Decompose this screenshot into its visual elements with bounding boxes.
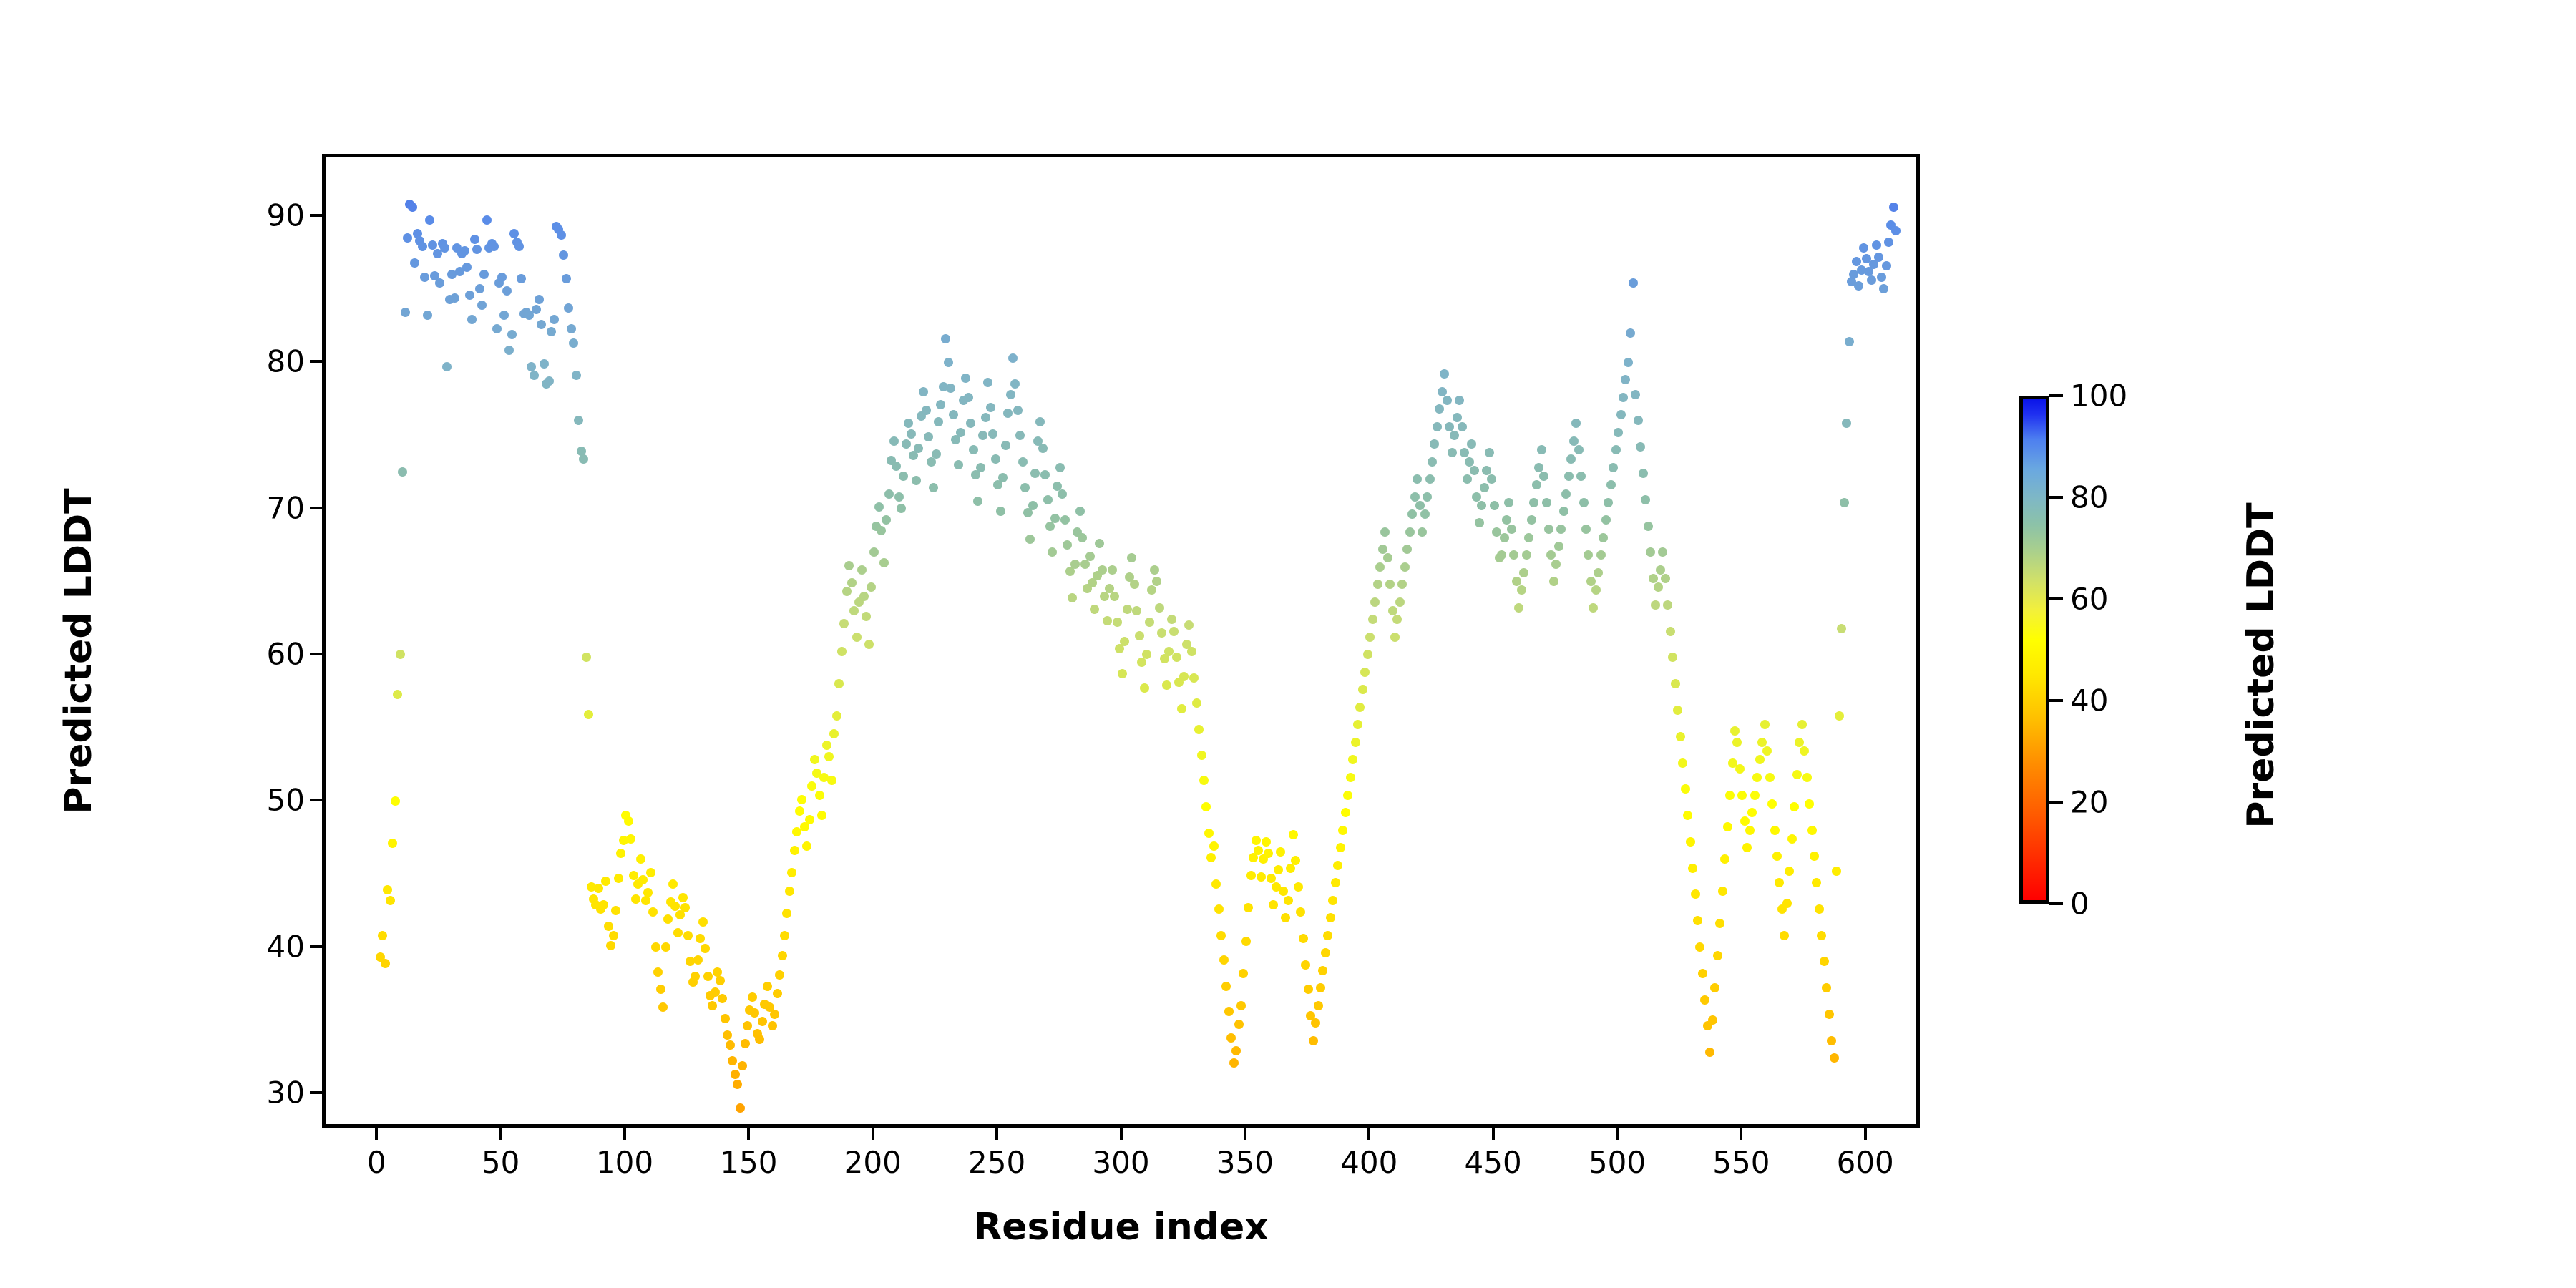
data-point <box>773 989 782 998</box>
data-point <box>1807 826 1817 835</box>
colorbar-tick-label: 0 <box>2070 887 2089 922</box>
data-point <box>1455 396 1464 405</box>
data-point <box>1750 791 1760 800</box>
data-point <box>1705 1048 1714 1057</box>
y-tick-mark <box>310 507 322 509</box>
data-point <box>1688 864 1697 873</box>
data-point <box>1812 878 1821 887</box>
colorbar-tick-mark <box>2049 394 2063 397</box>
data-point <box>768 1021 777 1030</box>
data-point <box>1433 422 1442 431</box>
data-point <box>631 894 640 904</box>
data-point <box>616 849 625 858</box>
data-point <box>778 951 787 960</box>
data-point <box>1291 856 1300 865</box>
data-point <box>1289 830 1298 839</box>
data-point <box>726 1040 735 1050</box>
data-point <box>1179 672 1189 681</box>
data-point <box>540 359 549 369</box>
data-point <box>673 928 683 937</box>
data-point <box>1440 369 1449 379</box>
data-point <box>678 893 688 902</box>
data-point <box>733 1080 742 1089</box>
data-point <box>929 483 938 492</box>
data-point <box>1693 916 1702 925</box>
data-point <box>638 875 648 884</box>
data-point <box>1463 474 1472 484</box>
data-point <box>944 358 953 367</box>
data-point <box>1252 836 1261 845</box>
data-point <box>1038 444 1048 453</box>
data-point <box>1420 509 1430 519</box>
data-point <box>514 242 524 251</box>
data-point <box>1891 226 1901 235</box>
data-point <box>1487 474 1496 484</box>
data-point <box>693 955 703 965</box>
data-point <box>1244 903 1253 912</box>
data-point <box>564 303 573 313</box>
data-point <box>1554 542 1563 551</box>
data-point <box>1879 284 1888 293</box>
data-point <box>1132 606 1141 615</box>
data-point <box>867 582 876 592</box>
data-point <box>956 428 965 437</box>
data-point <box>1631 390 1640 399</box>
data-point <box>1740 816 1750 826</box>
data-point <box>1695 942 1704 952</box>
data-point <box>504 346 514 355</box>
data-point <box>924 432 933 441</box>
data-point <box>1671 679 1680 688</box>
y-tick-label: 90 <box>267 197 305 233</box>
data-point <box>839 619 849 628</box>
data-point <box>721 1014 730 1023</box>
data-point <box>1130 580 1139 589</box>
x-tick-label: 550 <box>1712 1145 1770 1180</box>
data-point <box>703 972 713 981</box>
data-point <box>1443 396 1452 405</box>
data-point <box>1514 603 1523 613</box>
x-tick-mark <box>499 1128 502 1140</box>
data-point <box>790 846 799 855</box>
data-point <box>1787 834 1797 844</box>
data-point <box>889 436 899 446</box>
data-point <box>802 841 811 851</box>
data-point <box>378 931 387 940</box>
data-point <box>1532 480 1541 489</box>
data-point <box>797 795 806 804</box>
data-point <box>1407 509 1417 519</box>
data-point <box>852 633 862 642</box>
data-point <box>1028 501 1038 510</box>
data-point <box>1348 755 1357 764</box>
data-point <box>832 711 841 721</box>
data-point <box>879 558 889 567</box>
data-point <box>1663 600 1672 610</box>
data-point <box>1003 409 1013 418</box>
data-point <box>949 410 958 419</box>
data-point <box>1318 966 1327 975</box>
data-point <box>1281 913 1290 922</box>
data-point <box>1090 605 1099 614</box>
data-point <box>1246 871 1256 880</box>
data-point <box>535 295 544 304</box>
data-point <box>1418 527 1427 537</box>
data-point <box>899 472 908 481</box>
data-point <box>517 274 526 283</box>
data-point <box>1445 422 1454 431</box>
x-tick-label: 100 <box>596 1145 653 1180</box>
data-point <box>998 473 1008 482</box>
data-point <box>1018 457 1028 467</box>
data-point <box>1537 445 1546 454</box>
data-point <box>670 902 680 911</box>
data-point <box>1413 474 1422 484</box>
data-point <box>1611 445 1621 454</box>
data-point <box>1745 826 1755 835</box>
y-tick-label: 40 <box>267 929 305 964</box>
data-point <box>1314 1001 1323 1010</box>
data-point <box>1199 776 1209 785</box>
data-point <box>902 439 911 449</box>
data-point <box>1805 799 1814 809</box>
data-point <box>966 419 975 428</box>
y-tick-label: 60 <box>267 636 305 671</box>
data-point <box>1236 1001 1246 1010</box>
data-point <box>701 944 710 953</box>
data-point <box>738 1061 747 1070</box>
data-point <box>728 1056 737 1065</box>
data-point <box>1810 852 1819 861</box>
data-point <box>829 729 839 738</box>
data-point <box>1110 592 1119 601</box>
data-point <box>1549 577 1558 586</box>
scatter-plot-area[interactable] <box>326 157 1916 1124</box>
data-point <box>1470 466 1479 475</box>
data-point <box>973 497 982 506</box>
data-point <box>822 741 831 750</box>
data-point <box>912 476 921 485</box>
data-point <box>1713 951 1722 960</box>
data-point <box>1103 616 1112 625</box>
data-point <box>1262 837 1271 847</box>
data-point <box>579 454 588 464</box>
data-point <box>1681 784 1690 794</box>
data-point <box>1142 650 1151 659</box>
data-point <box>731 1070 740 1079</box>
data-point <box>1800 746 1809 756</box>
data-point <box>1614 428 1623 437</box>
data-point <box>1566 454 1576 464</box>
data-point <box>862 612 871 621</box>
data-point <box>1162 680 1171 690</box>
data-point <box>1331 878 1340 887</box>
data-point <box>1378 545 1387 554</box>
data-point <box>1328 896 1337 905</box>
data-point <box>582 653 591 662</box>
data-point <box>557 230 566 240</box>
data-point <box>1874 253 1883 262</box>
data-point <box>680 903 690 912</box>
data-point <box>1609 463 1618 472</box>
data-point <box>1830 1053 1839 1063</box>
data-point <box>1423 492 1432 502</box>
data-point <box>1524 533 1533 542</box>
x-tick-mark <box>623 1128 626 1140</box>
data-point <box>428 240 437 250</box>
data-point <box>656 985 665 994</box>
data-point <box>1668 653 1677 662</box>
data-point <box>1040 470 1050 479</box>
data-point <box>1385 580 1395 589</box>
data-point <box>1001 441 1010 450</box>
data-point <box>1522 550 1531 560</box>
data-point <box>567 324 576 333</box>
data-point <box>559 250 568 260</box>
data-point <box>1309 1036 1318 1045</box>
data-point <box>1472 492 1481 502</box>
data-point <box>1425 474 1435 484</box>
data-point <box>1338 826 1347 835</box>
data-point <box>1616 410 1626 419</box>
data-point <box>393 690 402 699</box>
data-point <box>770 1010 779 1019</box>
data-point <box>1656 565 1665 575</box>
data-point <box>1502 515 1511 525</box>
data-point <box>1453 413 1462 422</box>
data-point <box>1822 983 1831 992</box>
y-tick-label: 80 <box>267 344 305 379</box>
data-point <box>1840 498 1849 507</box>
data-point <box>1542 498 1551 507</box>
data-point <box>1742 843 1752 852</box>
data-point <box>509 229 519 238</box>
data-point <box>1559 507 1568 516</box>
data-point <box>1477 501 1486 510</box>
data-point <box>1048 547 1057 557</box>
data-point <box>1415 501 1425 510</box>
data-point <box>651 942 660 952</box>
data-point <box>1341 808 1350 817</box>
data-point <box>562 274 571 283</box>
data-point <box>1458 422 1467 431</box>
data-point <box>1619 393 1628 402</box>
data-point <box>1304 985 1313 994</box>
data-point <box>1043 495 1053 504</box>
data-point <box>1599 533 1608 542</box>
data-point <box>986 403 995 412</box>
data-point <box>1760 720 1770 729</box>
data-point <box>1395 597 1405 607</box>
data-point <box>1152 577 1161 586</box>
data-point <box>1123 605 1132 614</box>
y-tick-mark <box>310 945 322 948</box>
data-point <box>1355 703 1365 712</box>
data-point <box>849 606 859 615</box>
data-point <box>1060 515 1070 525</box>
data-point <box>1485 448 1494 457</box>
data-point <box>1820 957 1829 966</box>
data-point <box>1569 436 1579 446</box>
plddt-scatter-figure: 050100150200250300350400450500550600 Res… <box>0 0 2576 1288</box>
x-tick-mark <box>1367 1128 1370 1140</box>
data-point <box>467 315 477 324</box>
x-tick-mark <box>747 1128 750 1140</box>
data-point <box>604 922 613 931</box>
data-point <box>1058 489 1067 499</box>
data-point <box>1757 738 1767 747</box>
data-point <box>1068 593 1077 602</box>
data-point <box>869 547 879 557</box>
data-point <box>1402 545 1412 554</box>
data-point <box>1817 931 1826 940</box>
plot-axes <box>322 154 1920 1128</box>
data-point <box>1120 637 1129 646</box>
data-point <box>1644 522 1653 531</box>
data-point <box>1368 615 1377 624</box>
data-point <box>1030 469 1040 478</box>
data-point <box>988 429 997 439</box>
data-point <box>1534 463 1543 472</box>
y-tick-mark <box>310 214 322 217</box>
data-point <box>1224 1007 1234 1016</box>
data-point <box>1209 841 1219 851</box>
data-point <box>648 907 658 917</box>
data-point <box>1363 650 1372 659</box>
data-point <box>1428 457 1437 467</box>
data-point <box>606 941 615 950</box>
data-point <box>1450 431 1459 440</box>
data-point <box>1465 457 1474 467</box>
data-point <box>418 242 427 251</box>
data-point <box>1216 931 1226 940</box>
data-point <box>1641 495 1650 504</box>
data-point <box>748 992 757 1002</box>
data-point <box>1755 755 1765 764</box>
data-point <box>1075 507 1085 516</box>
data-point <box>1351 738 1360 747</box>
data-point <box>1070 560 1080 569</box>
data-point <box>1197 751 1206 760</box>
data-point <box>1333 861 1342 870</box>
data-point <box>807 781 816 791</box>
data-point <box>834 679 844 688</box>
data-point <box>1167 615 1176 624</box>
data-point <box>1234 1020 1244 1029</box>
data-point <box>629 871 638 880</box>
data-point <box>1383 553 1392 562</box>
data-point <box>1392 615 1402 624</box>
data-point <box>736 1103 745 1113</box>
data-point <box>1504 498 1513 507</box>
data-point <box>1360 668 1370 677</box>
data-point <box>1884 238 1893 247</box>
data-point <box>1730 726 1740 736</box>
data-point <box>1845 337 1854 346</box>
data-point <box>904 419 913 428</box>
data-point <box>408 203 417 212</box>
data-point <box>1150 565 1159 575</box>
data-point <box>1882 261 1891 270</box>
x-tick-label: 450 <box>1465 1145 1522 1180</box>
data-point <box>1497 550 1506 560</box>
data-point <box>1529 498 1538 507</box>
data-point <box>934 417 943 426</box>
data-point <box>1772 852 1782 861</box>
x-tick-mark <box>375 1128 378 1140</box>
data-point <box>1192 698 1201 708</box>
data-point <box>755 1035 764 1044</box>
data-point <box>1720 854 1729 864</box>
data-point <box>1055 463 1065 472</box>
colorbar-tick-label: 60 <box>2070 582 2108 617</box>
data-point <box>1710 983 1719 992</box>
data-point <box>492 324 502 333</box>
data-point <box>1400 562 1410 572</box>
data-point <box>636 854 645 864</box>
data-point <box>1596 550 1606 560</box>
x-tick-mark <box>995 1128 998 1140</box>
data-point <box>423 311 432 320</box>
x-tick-label: 200 <box>844 1145 902 1180</box>
data-point <box>946 384 955 393</box>
data-point <box>824 752 834 761</box>
data-point <box>388 839 397 848</box>
data-point <box>440 243 449 253</box>
data-point <box>897 504 906 513</box>
data-point <box>894 492 904 502</box>
data-point <box>1889 203 1898 212</box>
data-point <box>1435 404 1444 414</box>
data-point <box>1852 257 1861 266</box>
data-point <box>1219 955 1229 965</box>
data-point <box>691 972 700 981</box>
data-point <box>1564 472 1574 481</box>
data-point <box>661 942 670 952</box>
x-tick-label: 50 <box>482 1145 519 1180</box>
data-point <box>1556 525 1566 534</box>
data-point <box>1581 525 1591 534</box>
data-point <box>1135 631 1144 640</box>
data-point <box>827 776 836 785</box>
data-point <box>810 755 819 764</box>
data-point <box>594 884 603 893</box>
data-point <box>1157 628 1166 638</box>
data-point <box>1316 983 1325 992</box>
data-point <box>1780 931 1789 940</box>
colorbar <box>2019 396 2049 904</box>
data-point <box>1321 948 1330 957</box>
data-point <box>1299 934 1308 943</box>
data-point <box>1606 480 1616 489</box>
data-point <box>1507 525 1516 534</box>
data-point <box>475 284 484 293</box>
data-point <box>1098 565 1107 575</box>
data-point <box>1723 822 1732 831</box>
data-point <box>1867 275 1876 285</box>
data-point <box>1715 919 1724 928</box>
data-point <box>1010 379 1020 389</box>
data-point <box>1127 553 1136 562</box>
data-point <box>1725 791 1735 800</box>
data-point <box>1842 419 1851 428</box>
data-point <box>941 334 950 343</box>
data-point <box>545 376 554 386</box>
x-tick-label: 500 <box>1589 1145 1646 1180</box>
data-point <box>1095 539 1104 548</box>
data-point <box>1296 907 1305 917</box>
data-point <box>609 931 618 940</box>
